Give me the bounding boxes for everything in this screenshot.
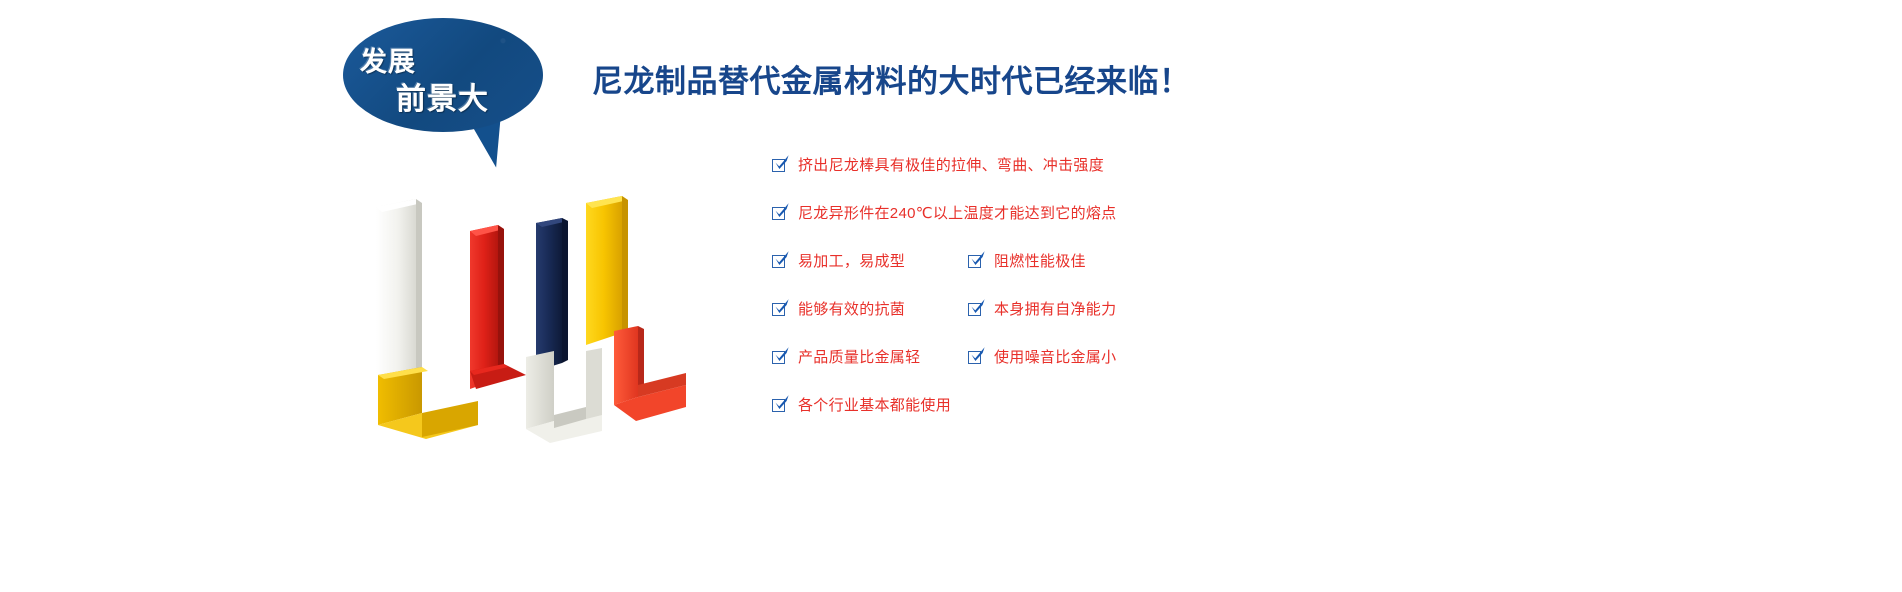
nylon-profiles-illustration [330, 185, 730, 460]
list-item: 阻燃性能极佳 [968, 254, 1086, 269]
list-item-label: 阻燃性能极佳 [994, 254, 1086, 269]
list-item-label: 各个行业基本都能使用 [798, 398, 951, 413]
list-item: 挤出尼龙棒具有极佳的拉伸、弯曲、冲击强度 [772, 158, 1104, 173]
feature-row: 易加工，易成型 阻燃性能极佳 [772, 254, 1412, 302]
check-box-icon [968, 350, 983, 365]
speech-bubble-line-2: 前景大 [396, 74, 489, 118]
list-item-label: 易加工，易成型 [798, 254, 905, 269]
check-box-icon [772, 254, 787, 269]
speech-bubble: 发展 前景大 [343, 18, 543, 153]
list-item-label: 挤出尼龙棒具有极佳的拉伸、弯曲、冲击强度 [798, 158, 1104, 173]
feature-row: 产品质量比金属轻 使用噪音比金属小 [772, 350, 1412, 398]
check-box-icon [968, 254, 983, 269]
list-item-label: 能够有效的抗菌 [798, 302, 905, 317]
list-item-label: 产品质量比金属轻 [798, 350, 920, 365]
check-box-icon [772, 302, 787, 317]
list-item: 使用噪音比金属小 [968, 350, 1116, 365]
feature-row: 各个行业基本都能使用 [772, 398, 1412, 446]
feature-row: 尼龙异形件在240℃以上温度才能达到它的熔点 [772, 206, 1412, 254]
check-box-icon [772, 158, 787, 173]
feature-list: 挤出尼龙棒具有极佳的拉伸、弯曲、冲击强度 尼龙异形件在240℃以上温度才能达到它… [772, 158, 1412, 446]
check-box-icon [968, 302, 983, 317]
list-item-label: 本身拥有自净能力 [994, 302, 1116, 317]
list-item: 产品质量比金属轻 [772, 350, 920, 365]
feature-row: 能够有效的抗菌 本身拥有自净能力 [772, 302, 1412, 350]
page-title: 尼龙制品替代金属材料的大时代已经来临！ [592, 56, 1191, 101]
list-item: 各个行业基本都能使用 [772, 398, 951, 413]
feature-row: 挤出尼龙棒具有极佳的拉伸、弯曲、冲击强度 [772, 158, 1412, 206]
check-box-icon [772, 206, 787, 221]
list-item-label: 使用噪音比金属小 [994, 350, 1116, 365]
check-box-icon [772, 398, 787, 413]
list-item: 尼龙异形件在240℃以上温度才能达到它的熔点 [772, 206, 1116, 221]
list-item-label: 尼龙异形件在240℃以上温度才能达到它的熔点 [798, 206, 1116, 221]
list-item: 本身拥有自净能力 [968, 302, 1116, 317]
list-item: 易加工，易成型 [772, 254, 905, 269]
product-photo [330, 185, 730, 460]
promo-banner: 发展 前景大 尼龙制品替代金属材料的大时代已经来临！ [0, 0, 1902, 592]
check-box-icon [772, 350, 787, 365]
list-item: 能够有效的抗菌 [772, 302, 905, 317]
